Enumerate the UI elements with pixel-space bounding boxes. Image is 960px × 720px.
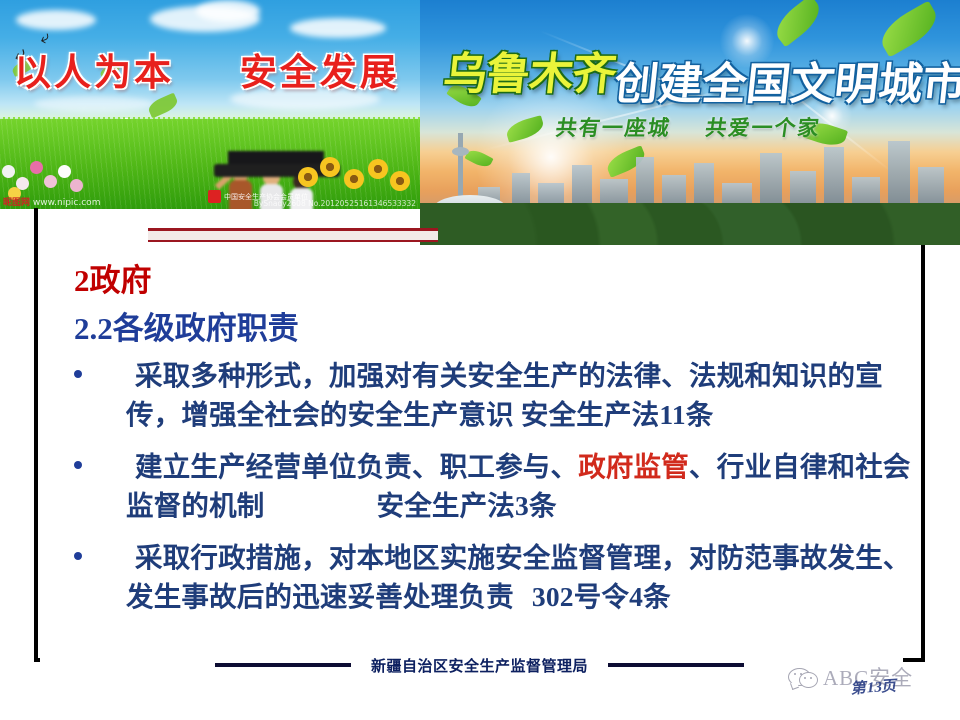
headline-part-2: 安全发展: [240, 51, 400, 94]
cloud-shape: [290, 18, 386, 38]
bullet-dot-icon: [74, 461, 82, 469]
bullet-dot-icon: [74, 370, 82, 378]
bullet-body-1: 采取多种形式，加强对有关安全生产的法律、法规和知识的宣传，增强全社会的安全生产意…: [126, 356, 938, 434]
bullet-segment: 安全生产法11条: [514, 399, 714, 430]
sunflower-shape: [320, 157, 340, 177]
page-title-number: 2: [74, 263, 90, 298]
flower-shape: [2, 165, 15, 178]
subtitle-part-2: 共爱一个家: [704, 116, 822, 140]
site-url: www.nipic.com: [33, 198, 101, 208]
banner-right-subtitle: 共有一座城 共爱一个家: [554, 112, 823, 142]
flower-shape: [58, 165, 71, 178]
flower-shape: [70, 179, 83, 192]
wechat-bubbles-icon: [788, 666, 818, 688]
banner-left-site-watermark: 昵图网 www.nipic.com: [3, 195, 100, 208]
banner-left-author-watermark: BySnady2608 No.20120525161346533332: [254, 199, 416, 208]
sunflower-shape: [368, 159, 388, 179]
bullet-list: 采取多种形式，加强对有关安全生产的法律、法规和知识的宣传，增强全社会的安全生产意…: [62, 356, 938, 629]
sunflowers-cluster: [296, 153, 416, 205]
flower-shape: [44, 175, 57, 188]
sunflower-shape: [344, 169, 364, 189]
flower-shape: [30, 161, 43, 174]
sunflower-shape: [390, 171, 410, 191]
bullet-segment: 采取多种形式，加强对有关安全生产的法律、法规和知识的宣传，增强全社会的安全生产意…: [126, 360, 883, 430]
cloud-shape: [34, 96, 154, 112]
bullet-body-2: 建立生产经营单位负责、职工参与、政府监管、行业自律和社会监督的机制安全生产法3条: [126, 447, 938, 525]
tree-line: [420, 203, 960, 245]
page-subtitle: 2.2各级政府职责: [74, 303, 299, 348]
bullet-segment-reference: 安全生产法3条: [377, 490, 557, 521]
cloud-shape: [16, 10, 96, 30]
frame-border-left: [34, 208, 38, 662]
bullet-segment: 建立生产经营单位负责、职工参与、: [135, 451, 578, 482]
list-item: 采取行政措施，对本地区实施安全监督管理，对防范事故发生、发生事故后的迅速妥善处理…: [62, 538, 938, 616]
bullet-body-3: 采取行政措施，对本地区实施安全监督管理，对防范事故发生、发生事故后的迅速妥善处理…: [126, 538, 938, 616]
red-divider-line: [148, 228, 438, 242]
page-title: 2政府: [74, 255, 152, 300]
slide-canvas: ⤶ ⤶: [0, 0, 960, 720]
list-item: 建立生产经营单位负责、职工参与、政府监管、行业自律和社会监督的机制安全生产法3条: [62, 447, 938, 525]
leaf-shape: [146, 93, 180, 119]
banner-right-image: 乌鲁木齐 创建全国文明城市 共有一座城 共爱一个家: [420, 0, 960, 245]
footer-organization: 新疆自治区安全生产监督管理局: [371, 655, 588, 676]
city-skyline: [420, 125, 960, 245]
title-slogan: 创建全国文明城市: [611, 48, 960, 112]
chat-bubble-front: [799, 672, 818, 688]
cloud-shape: [196, 0, 260, 22]
page-number: 第13页: [850, 674, 899, 698]
title-city-name: 乌鲁木齐: [441, 38, 620, 102]
site-name-zh: 昵图网: [3, 198, 30, 208]
banner-right-title: 乌鲁木齐 创建全国文明城市: [444, 38, 960, 102]
footer-rule-left: [215, 663, 351, 667]
bubble-eye: [804, 677, 806, 679]
bullet-segment-highlight: 政府监管: [578, 451, 689, 482]
banner-left-headline: 以人为本 安全发展: [14, 42, 414, 96]
badge-emblem-icon: [208, 190, 221, 203]
bullet-segment: 采取行政措施，对本地区实施安全监督管理，对防范事故发生、发生事故后的迅速妥善处理…: [126, 542, 911, 612]
headline-part-1: 以人为本: [14, 51, 174, 94]
tv-tower-shape: [458, 133, 463, 205]
sunflower-shape: [298, 167, 318, 187]
bullet-segment-reference: 302号令4条: [525, 581, 671, 612]
page-title-text: 政府: [90, 263, 152, 298]
bubble-eye: [810, 677, 812, 679]
bullet-dot-icon: [74, 552, 82, 560]
page-subtitle-number: 2.2: [74, 311, 113, 346]
subtitle-part-1: 共有一座城: [554, 116, 672, 140]
page-subtitle-text: 各级政府职责: [113, 311, 299, 346]
banner-left-image: ⤶ ⤶: [0, 0, 420, 209]
bubble-eye: [794, 673, 796, 675]
list-item: 采取多种形式，加强对有关安全生产的法律、法规和知识的宣传，增强全社会的安全生产意…: [62, 356, 938, 434]
footer-rule-right: [608, 663, 744, 667]
